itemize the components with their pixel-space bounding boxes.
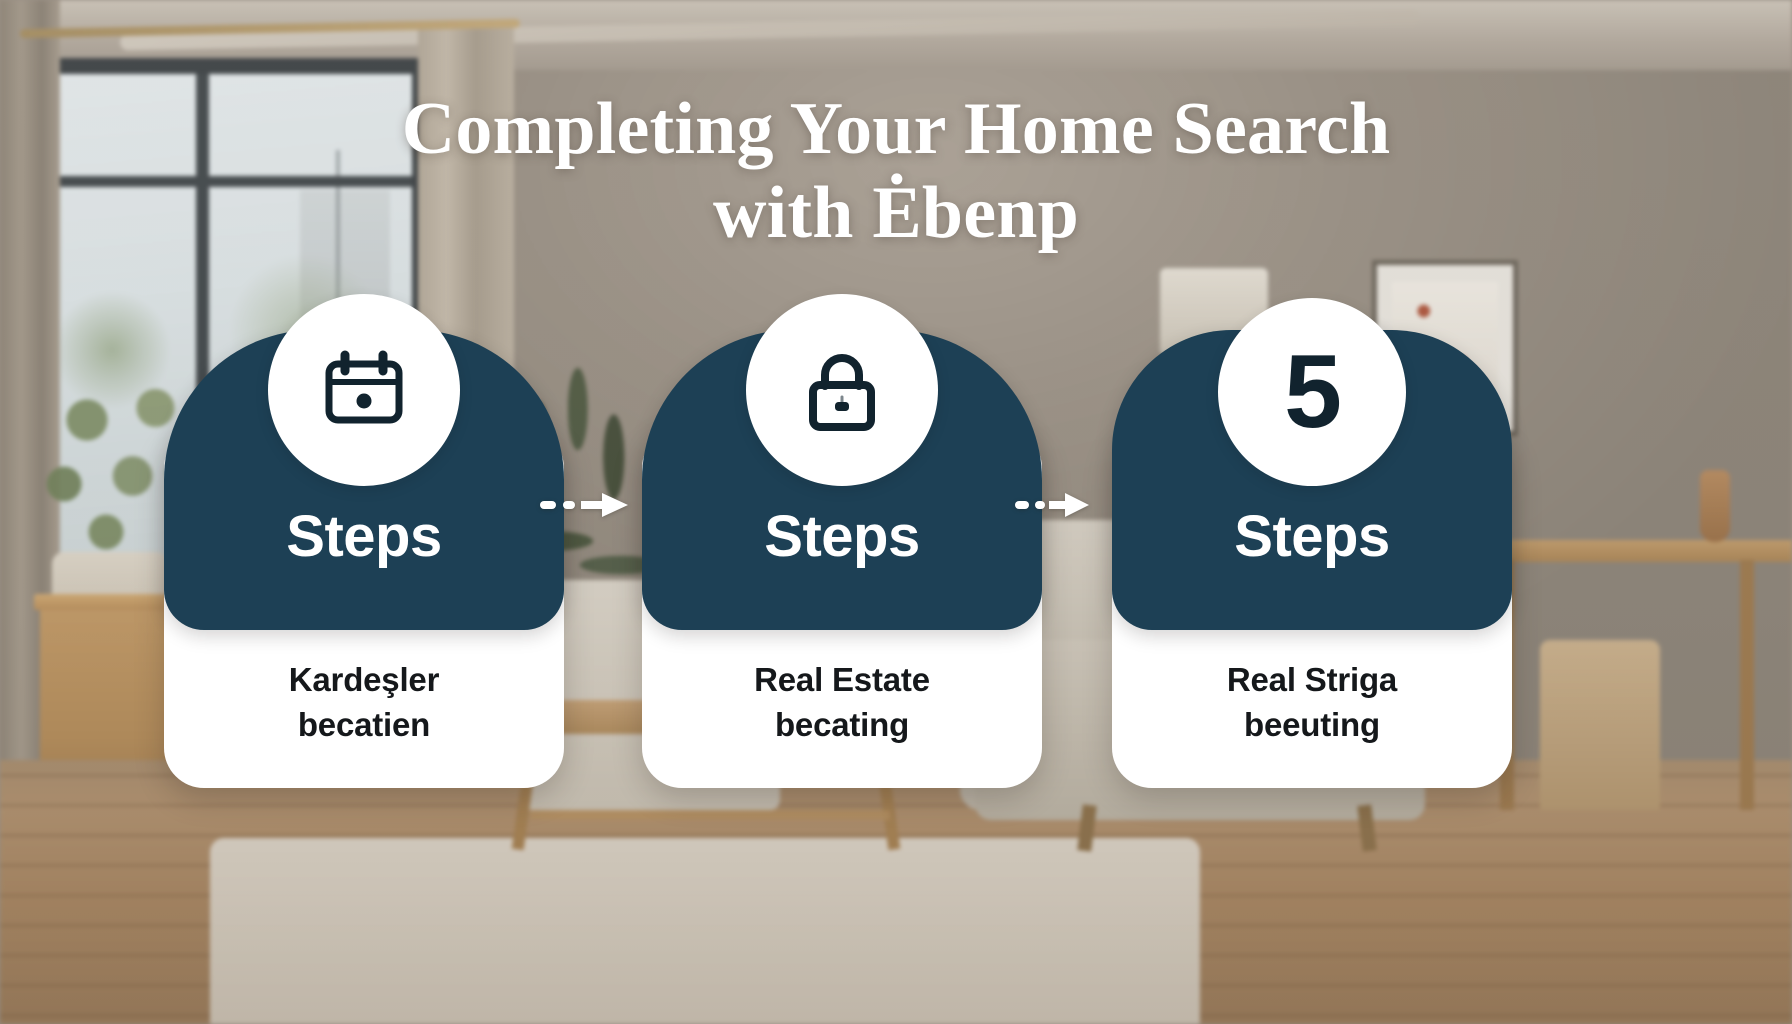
dashed-arrow-right-icon <box>1015 490 1093 520</box>
step-card-2-steps-label: Steps <box>642 508 1042 566</box>
lock-icon <box>794 342 890 438</box>
step-card-1-caption-line-1: Kardeşler <box>164 658 564 703</box>
step-card-2-caption-line-2: becating <box>642 703 1042 748</box>
step-card-3-steps-label: Steps <box>1112 508 1512 566</box>
connector-arrow-2 <box>1015 488 1115 522</box>
infographic-stage: Completing Your Home Search with Ėbenp <box>0 0 1792 1024</box>
step-card-1-caption: Kardeşler becatien <box>164 658 564 748</box>
step-card-2-medallion <box>746 294 938 486</box>
step-card-1-caption-line-2: becatien <box>164 703 564 748</box>
step-card-1-steps-label: Steps <box>164 508 564 566</box>
step-card-1-medallion <box>268 294 460 486</box>
dashed-arrow-right-icon <box>540 490 632 520</box>
calendar-icon <box>316 342 412 438</box>
step-card-3-caption: Real Striga beeuting <box>1112 658 1512 748</box>
step-card-3-caption-line-2: beeuting <box>1112 703 1512 748</box>
step-card-2-caption-line-1: Real Estate <box>642 658 1042 703</box>
step-card-3-medallion: 5 <box>1218 298 1406 486</box>
step-card-3-caption-line-1: Real Striga <box>1112 658 1512 703</box>
step-number-badge: 5 <box>1284 340 1340 444</box>
connector-arrow-1 <box>540 488 640 522</box>
step-card-2-caption: Real Estate becating <box>642 658 1042 748</box>
steps-card-row: Steps Kardeşler becatien <box>0 0 1792 1024</box>
